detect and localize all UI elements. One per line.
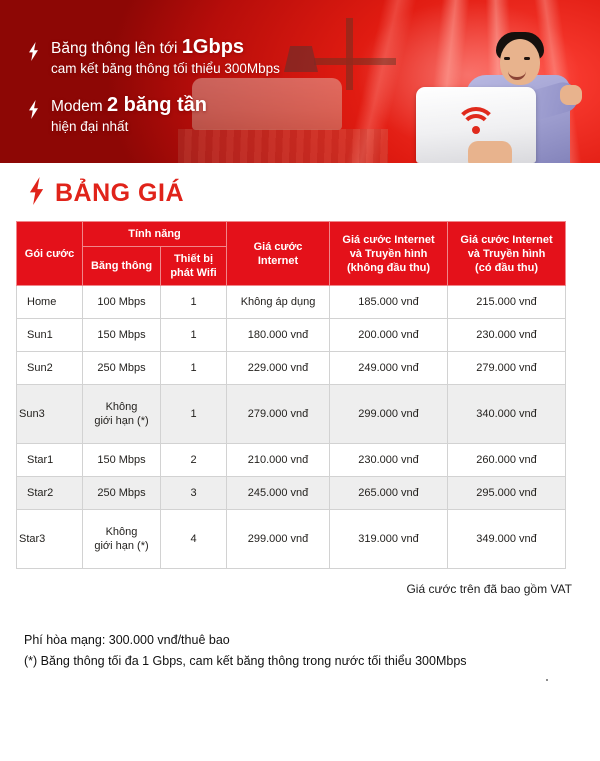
person-eye-right — [524, 57, 530, 60]
column-header-wifi-device: Thiết bị phát Wifi — [161, 247, 227, 286]
footer-notes: Phí hòa mạng: 300.000 vnđ/thuê bao (*) B… — [24, 630, 600, 672]
table-row: Sun3Khônggiới hạn (*)1279.000 vnđ299.000… — [17, 385, 566, 444]
lamp-icon — [284, 46, 318, 72]
column-header-combo-no-box-line1: Giá cước Internet — [333, 233, 444, 247]
cell-bandwidth-line2: giới hạn (*) — [85, 539, 158, 553]
cell-wifi-devices: 4 — [161, 510, 227, 569]
table-row: Star2250 Mbps3245.000 vnđ265.000 vnđ295.… — [17, 477, 566, 510]
banner-bullet-2-line2: hiện đại nhất — [51, 117, 207, 136]
cell-combo-no-box: 185.000 vnđ — [330, 286, 448, 319]
cell-combo-no-box: 230.000 vnđ — [330, 444, 448, 477]
column-header-combo-with-box: Giá cước Internet và Truyền hình (có đầu… — [448, 222, 566, 286]
cell-bandwidth-line2: giới hạn (*) — [85, 414, 158, 428]
cell-combo-with-box: 295.000 vnđ — [448, 477, 566, 510]
cell-combo-with-box: 349.000 vnđ — [448, 510, 566, 569]
cell-bandwidth-line1: Không — [85, 525, 158, 539]
cell-bandwidth: 250 Mbps — [83, 352, 161, 385]
cell-package: Star2 — [17, 477, 83, 510]
cell-bandwidth-line1: 150 Mbps — [85, 328, 158, 342]
banner-bullet-1-lines: Băng thông lên tới 1Gbps cam kết băng th… — [51, 38, 280, 78]
cell-bandwidth-line1: 150 Mbps — [85, 453, 158, 467]
table-row: Star1150 Mbps2210.000 vnđ230.000 vnđ260.… — [17, 444, 566, 477]
cell-package: Sun3 — [17, 385, 83, 444]
pricing-table: Gói cước Tính năng Giá cước Internet Giá… — [16, 221, 566, 569]
column-header-internet-price-line2: Internet — [230, 254, 326, 268]
column-header-wifi-device-line2: phát Wifi — [164, 266, 223, 280]
cell-bandwidth: Khônggiới hạn (*) — [83, 385, 161, 444]
cell-internet-price: 279.000 vnđ — [227, 385, 330, 444]
cell-combo-with-box: 340.000 vnđ — [448, 385, 566, 444]
banner-bullet-2: Modem 2 băng tần hiện đại nhất — [28, 96, 280, 136]
cell-combo-with-box: 230.000 vnđ — [448, 319, 566, 352]
cell-combo-no-box: 299.000 vnđ — [330, 385, 448, 444]
cell-bandwidth: 250 Mbps — [83, 477, 161, 510]
cell-internet-price: 229.000 vnđ — [227, 352, 330, 385]
banner-bullet-1-line2: cam kết băng thông tối thiểu 300Mbps — [51, 59, 280, 78]
table-row: Star3Khônggiới hạn (*)4299.000 vnđ319.00… — [17, 510, 566, 569]
stray-dot-artifact — [546, 679, 548, 681]
pricing-table-container: Gói cước Tính năng Giá cước Internet Giá… — [16, 221, 565, 569]
cell-internet-price: 245.000 vnđ — [227, 477, 330, 510]
column-header-combo-with-box-line2: và Truyền hình — [451, 247, 562, 261]
cell-package: Sun2 — [17, 352, 83, 385]
cell-combo-with-box: 215.000 vnđ — [448, 286, 566, 319]
cell-package: Home — [17, 286, 83, 319]
cell-wifi-devices: 1 — [161, 352, 227, 385]
cell-bandwidth-line1: 250 Mbps — [85, 361, 158, 375]
cell-internet-price: 210.000 vnđ — [227, 444, 330, 477]
banner-bullet-2-lines: Modem 2 băng tần hiện đại nhất — [51, 96, 207, 136]
cell-bandwidth: 150 Mbps — [83, 444, 161, 477]
banner-bullet-2-highlight: 2 băng tần — [107, 94, 207, 116]
column-header-wifi-device-line1: Thiết bị — [164, 252, 223, 266]
footer-note-bandwidth-asterisk: (*) Băng thông tối đa 1 Gbps, cam kết bă… — [24, 651, 600, 672]
column-header-combo-with-box-line1: Giá cước Internet — [451, 233, 562, 247]
cell-combo-with-box: 279.000 vnđ — [448, 352, 566, 385]
banner-text-block: Băng thông lên tới 1Gbps cam kết băng th… — [28, 38, 280, 154]
cell-wifi-devices: 1 — [161, 319, 227, 352]
banner-bullet-1-highlight: 1Gbps — [182, 36, 244, 58]
banner-bullet-1-line1: Băng thông lên tới 1Gbps — [51, 38, 280, 58]
cell-wifi-devices: 2 — [161, 444, 227, 477]
cell-bandwidth-line1: 100 Mbps — [85, 295, 158, 309]
cell-package: Star1 — [17, 444, 83, 477]
table-header-row-1: Gói cước Tính năng Giá cước Internet Giá… — [17, 222, 566, 247]
table-body: Home100 Mbps1Không áp dụng185.000 vnđ215… — [17, 286, 566, 569]
column-header-features-group: Tính năng — [83, 222, 227, 247]
cell-bandwidth: Khônggiới hạn (*) — [83, 510, 161, 569]
cell-bandwidth: 100 Mbps — [83, 286, 161, 319]
lightning-bolt-icon — [28, 177, 45, 210]
cell-combo-with-box: 260.000 vnđ — [448, 444, 566, 477]
lightning-bolt-icon — [28, 42, 39, 66]
cell-bandwidth-line1: Không — [85, 400, 158, 414]
person-hand-holding-laptop — [468, 141, 512, 163]
wifi-icon — [456, 107, 496, 137]
table-row: Sun2250 Mbps1229.000 vnđ249.000 vnđ279.0… — [17, 352, 566, 385]
cell-combo-no-box: 249.000 vnđ — [330, 352, 448, 385]
cell-bandwidth: 150 Mbps — [83, 319, 161, 352]
cell-combo-no-box: 200.000 vnđ — [330, 319, 448, 352]
cell-internet-price: Không áp dụng — [227, 286, 330, 319]
cell-internet-price: 299.000 vnđ — [227, 510, 330, 569]
cell-package: Star3 — [17, 510, 83, 569]
cell-bandwidth-line1: 250 Mbps — [85, 486, 158, 500]
vat-note: Giá cước trên đã bao gồm VAT — [0, 582, 572, 596]
column-header-combo-with-box-line3: (có đầu thu) — [451, 261, 562, 275]
page-title: BẢNG GIÁ — [55, 179, 184, 208]
cell-wifi-devices: 3 — [161, 477, 227, 510]
column-header-bandwidth: Băng thông — [83, 247, 161, 286]
person-hand-pointing — [560, 85, 582, 105]
cell-combo-no-box: 265.000 vnđ — [330, 477, 448, 510]
column-header-combo-no-box-line2: và Truyền hình — [333, 247, 444, 261]
section-title: BẢNG GIÁ — [28, 177, 600, 210]
banner-bullet-2-line1: Modem 2 băng tần — [51, 96, 207, 116]
table-header: Gói cước Tính năng Giá cước Internet Giá… — [17, 222, 566, 286]
lightning-bolt-icon — [28, 100, 39, 124]
cell-wifi-devices: 1 — [161, 286, 227, 319]
cell-wifi-devices: 1 — [161, 385, 227, 444]
banner-bullet-2-prefix: Modem — [51, 98, 107, 115]
column-header-combo-no-box-line3: (không đầu thu) — [333, 261, 444, 275]
banner-bullet-1-prefix: Băng thông lên tới — [51, 40, 182, 57]
column-header-internet-price: Giá cước Internet — [227, 222, 330, 286]
column-header-internet-price-line1: Giá cước — [230, 240, 326, 254]
cell-package: Sun1 — [17, 319, 83, 352]
banner-bullet-1: Băng thông lên tới 1Gbps cam kết băng th… — [28, 38, 280, 78]
wifi-dot — [472, 126, 480, 134]
column-header-combo-no-box: Giá cước Internet và Truyền hình (không … — [330, 222, 448, 286]
footer-note-installation-fee: Phí hòa mạng: 300.000 vnđ/thuê bao — [24, 630, 600, 651]
promo-banner: Băng thông lên tới 1Gbps cam kết băng th… — [0, 0, 600, 163]
column-header-package: Gói cước — [17, 222, 83, 286]
person-eye-left — [504, 57, 510, 60]
table-row: Sun1150 Mbps1180.000 vnđ200.000 vnđ230.0… — [17, 319, 566, 352]
cell-combo-no-box: 319.000 vnđ — [330, 510, 448, 569]
cell-internet-price: 180.000 vnđ — [227, 319, 330, 352]
table-row: Home100 Mbps1Không áp dụng185.000 vnđ215… — [17, 286, 566, 319]
